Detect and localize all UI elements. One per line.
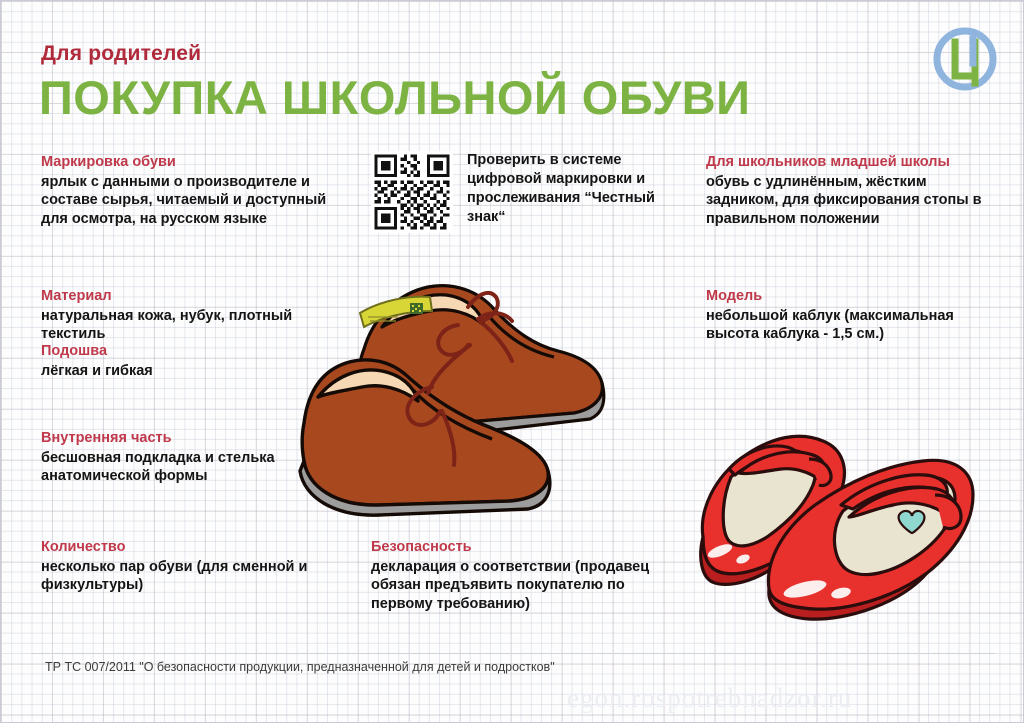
block-model: Модель небольшой каблук (максимальная вы… bbox=[706, 287, 1001, 344]
block-body: несколько пар обуви (для сменной и физку… bbox=[41, 558, 323, 596]
block-inner-part: Внутренняя часть бесшовная подкладка и с… bbox=[41, 429, 303, 486]
brown-school-shoes-pair bbox=[282, 263, 622, 521]
block-body: обувь с удлинённым, жёстким задником, дл… bbox=[706, 173, 994, 230]
block-marking: Маркировка обуви ярлык с данными о произ… bbox=[41, 153, 333, 229]
block-sole: Подошва лёгкая и гибкая bbox=[41, 342, 301, 380]
qr-instruction-text: Проверить в системе цифровой маркировки … bbox=[467, 151, 671, 226]
footer-divider bbox=[31, 653, 995, 654]
block-heading: Количество bbox=[41, 538, 323, 557]
block-heading: Материал bbox=[41, 287, 301, 306]
block-young-pupils: Для школьников младшей школы обувь с удл… bbox=[706, 153, 994, 229]
rospotrebnadzor-circle-logo bbox=[929, 23, 1001, 95]
block-body: бесшовная подкладка и стелька анатомичес… bbox=[41, 449, 303, 487]
chestny-znak-qr-code[interactable] bbox=[371, 151, 453, 233]
site-watermark: egon.rospotrebnadzor.ru bbox=[567, 683, 852, 714]
block-body: декларация о соответствии (продавец обяз… bbox=[371, 558, 671, 615]
block-material: Материал натуральная кожа, нубук, плотны… bbox=[41, 287, 301, 344]
block-safety: Безопасность декларация о соответствии (… bbox=[371, 538, 671, 614]
block-qr-check: Проверить в системе цифровой маркировки … bbox=[371, 151, 671, 233]
block-heading: Подошва bbox=[41, 342, 301, 361]
block-heading: Модель bbox=[706, 287, 1001, 306]
block-body: лёгкая и гибкая bbox=[41, 362, 301, 381]
infographic-poster: Для родителей ПОКУПКА ШКОЛЬНОЙ ОБУВИ Мар… bbox=[0, 0, 1024, 723]
block-heading: Внутренняя часть bbox=[41, 429, 303, 448]
block-quantity: Количество несколько пар обуви (для смен… bbox=[41, 538, 323, 595]
block-body: небольшой каблук (максимальная высота ка… bbox=[706, 307, 1001, 345]
red-mary-jane-shoes-pair bbox=[673, 399, 1003, 635]
block-body: натуральная кожа, нубук, плотный текстил… bbox=[41, 307, 301, 345]
regulation-footnote: ТР ТС 007/2011 "О безопасности продукции… bbox=[45, 660, 555, 674]
block-heading: Для школьников младшей школы bbox=[706, 153, 994, 172]
kicker-label: Для родителей bbox=[41, 42, 201, 66]
block-heading: Маркировка обуви bbox=[41, 153, 333, 172]
block-heading: Безопасность bbox=[371, 538, 671, 557]
block-body: ярлык с данными о производителе и состав… bbox=[41, 173, 333, 230]
page-title: ПОКУПКА ШКОЛЬНОЙ ОБУВИ bbox=[39, 73, 750, 122]
